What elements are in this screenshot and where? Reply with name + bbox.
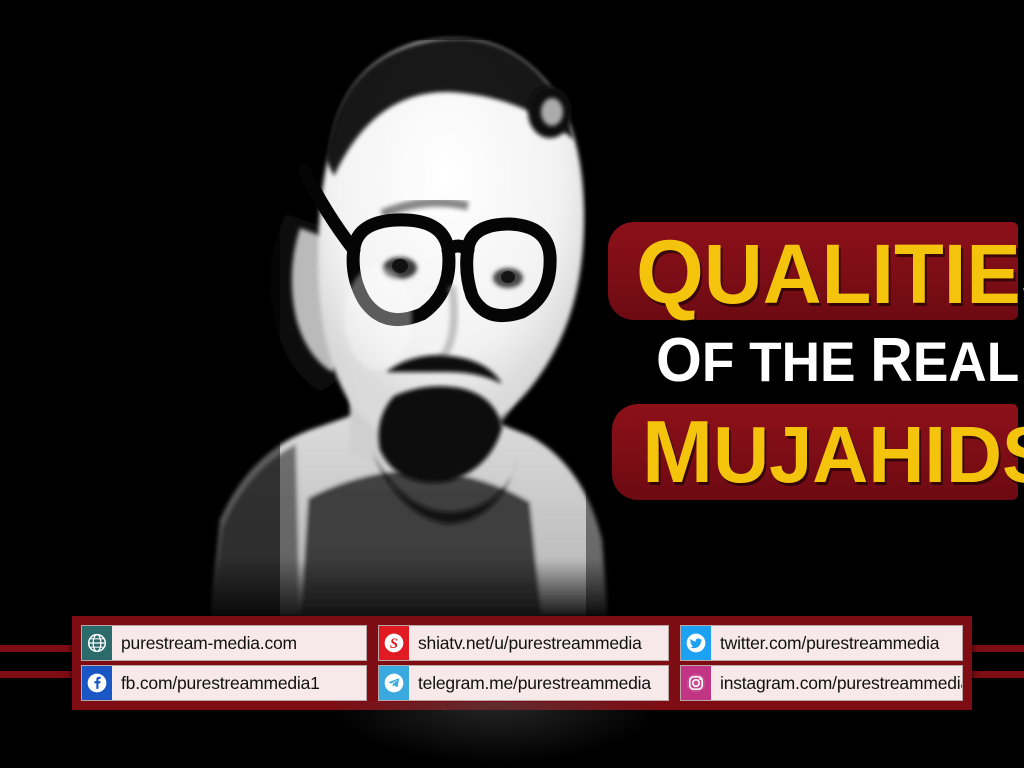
social-link-shiatv[interactable]: S shiatv.net/u/purestreammedia: [378, 625, 669, 661]
shiatv-icon: S: [379, 626, 409, 660]
title-line-of-the-real-cap: O: [656, 326, 702, 395]
portrait-image: [150, 0, 670, 620]
divider-rule-right-upper: [972, 645, 1024, 652]
title-line-mujahids-cap: M: [642, 402, 713, 501]
video-thumbnail-canvas: QUALITIES OF THE REAL MUJAHIDS: [0, 0, 1024, 768]
title-line-mujahids-rest: UJAHIDS: [713, 410, 1024, 499]
title-line-of-the-real: OF THE REAL: [656, 330, 1019, 392]
social-link-telegram-label: telegram.me/purestreammedia: [409, 666, 668, 700]
social-links-bar: purestream-media.com S shiatv.net/u/pure…: [72, 616, 972, 710]
social-link-shiatv-label: shiatv.net/u/purestreammedia: [409, 626, 668, 660]
social-row-2: fb.com/purestreammedia1 telegram.me/pure…: [81, 665, 963, 701]
divider-rule-right-lower: [972, 671, 1024, 678]
title-line-qualities-rest: UALITIES: [704, 227, 1024, 321]
title-line-mujahids: MUJAHIDS: [642, 408, 1024, 496]
title-line-qualities: QUALITIES: [636, 228, 1024, 318]
globe-icon: [82, 626, 112, 660]
divider-rule-left-lower: [0, 671, 76, 678]
social-link-telegram[interactable]: telegram.me/purestreammedia: [378, 665, 669, 701]
social-link-website-label: purestream-media.com: [112, 626, 366, 660]
title-block: QUALITIES OF THE REAL MUJAHIDS: [600, 222, 1024, 502]
bottom-glow: [330, 702, 660, 762]
portrait-illustration: [150, 0, 670, 620]
telegram-icon: [379, 666, 409, 700]
social-link-website[interactable]: purestream-media.com: [81, 625, 367, 661]
svg-text:S: S: [390, 636, 398, 652]
facebook-icon: [82, 666, 112, 700]
social-link-instagram[interactable]: instagram.com/purestreammedia: [680, 665, 963, 701]
social-link-twitter-label: twitter.com/purestreammedia: [711, 626, 962, 660]
title-line-of-the-real-rest2: EAL: [913, 330, 1019, 393]
social-link-facebook[interactable]: fb.com/purestreammedia1: [81, 665, 367, 701]
social-link-facebook-label: fb.com/purestreammedia1: [112, 666, 366, 700]
instagram-icon: [681, 666, 711, 700]
title-line-of-the-real-rest: F THE: [702, 330, 870, 393]
divider-rule-left-upper: [0, 645, 76, 652]
title-line-qualities-cap: Q: [636, 223, 704, 323]
social-link-twitter[interactable]: twitter.com/purestreammedia: [680, 625, 963, 661]
title-line-of-the-real-cap2: R: [870, 326, 913, 395]
social-row-1: purestream-media.com S shiatv.net/u/pure…: [81, 625, 963, 661]
twitter-icon: [681, 626, 711, 660]
social-link-instagram-label: instagram.com/purestreammedia: [711, 666, 962, 700]
